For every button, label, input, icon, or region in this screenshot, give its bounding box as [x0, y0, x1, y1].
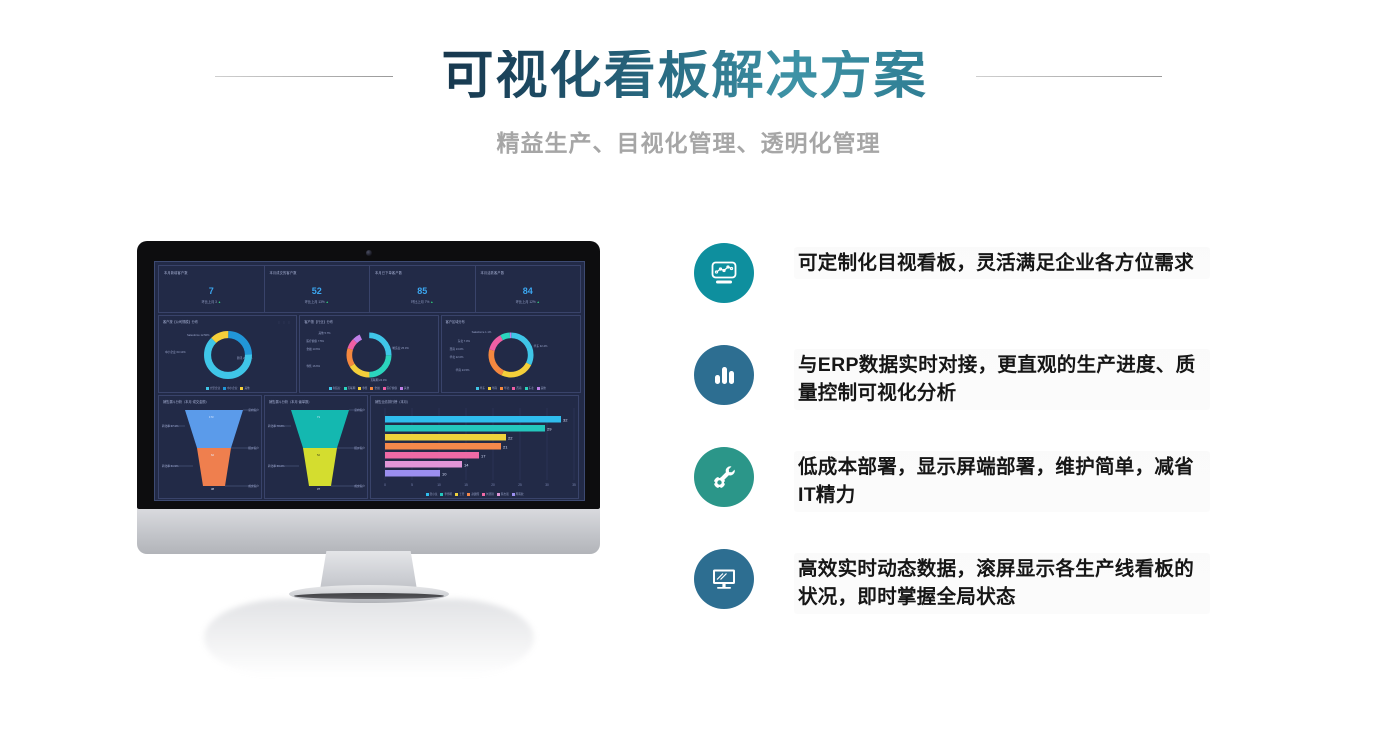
svg-text:10: 10	[437, 483, 441, 487]
kpi-value: 52	[265, 286, 370, 296]
kpi-row: 本月新增客户数 7 环比上月 3 ▲ 本月成交的客户数 52	[158, 265, 581, 313]
chart-legend: 华东 华南 华北 西南 东北 其他	[442, 386, 580, 390]
feature-text: 与ERP数据实时对接，更直观的生产进度、质量控制可视化分析	[794, 349, 1210, 410]
kpi-sub-value: 3	[215, 300, 217, 304]
funnel-value: 37	[317, 488, 320, 491]
bar-chart-icon	[694, 345, 754, 405]
feature-item-erp[interactable]: 与ERP数据实时对接，更直观的生产进度、质量控制可视化分析	[694, 345, 1224, 447]
panel-ranking[interactable]: 销售业绩排行榜（本月）	[370, 395, 579, 499]
bar-chart: 32 29 22 21 17 14 10 0510	[371, 396, 580, 496]
funnel-value: 38	[211, 488, 214, 491]
kpi-trend-up-icon: ▲	[326, 300, 329, 304]
kpi-card[interactable]: 本月活跃客户数 84 环比上月 12% ▲	[475, 265, 582, 313]
funnel-value: 62	[211, 454, 214, 457]
poster-root: 可视化看板解决方案 精益生产、目视化管理、透明化管理 本月新增客户数 7 环比上…	[0, 0, 1377, 753]
funnel-rate-label: 转化率 37.1%	[162, 424, 178, 428]
monitor-linechart-icon	[694, 243, 754, 303]
feature-item-realtime[interactable]: 高效实时动态数据，滚屏显示各生产线看板的状况，即时掌握全局状态	[694, 549, 1224, 651]
monitor-chin	[137, 509, 600, 554]
funnel-stage-label: 成交客户	[354, 484, 365, 488]
monitor-reflection	[204, 599, 534, 677]
wrench-gear-glyph	[707, 460, 741, 494]
monitor-icon	[694, 549, 754, 609]
legend-item: 金融	[370, 386, 379, 390]
title-row: 可视化看板解决方案	[0, 40, 1377, 112]
feature-text: 可定制化目视看板，灵活满足企业各方位需求	[794, 247, 1210, 279]
feature-list: 可定制化目视看板，灵活满足企业各方位需求 与ERP数据实时对接，更直观的生产进度…	[694, 243, 1224, 653]
page-title: 可视化看板解决方案	[441, 50, 927, 102]
kpi-sub: 环比上月 3 ▲	[159, 299, 264, 304]
donut-svg	[201, 328, 255, 382]
legend-item: 华南	[488, 386, 497, 390]
donut-chart	[300, 327, 437, 383]
panel-region[interactable]: 客户区域分布 Salesforce 1.1% 东北 7.0% 西南 13.0% …	[441, 315, 581, 393]
legend-item: 刘思琪	[482, 492, 494, 496]
kpi-card[interactable]: 本月成交的客户数 52 环比上月 13% ▲	[264, 265, 370, 313]
kpi-value: 84	[476, 286, 581, 296]
kpi-sub-value: 12%	[529, 300, 535, 304]
kpi-card[interactable]: 本月已下单客户数 85 环比上月 7% ▲	[369, 265, 475, 313]
chart-legend: 制造业 互联网 零售 金融 医疗健康 其他	[300, 386, 437, 390]
legend-item: 赵建国	[467, 492, 479, 496]
kpi-sub-label: 环比上月	[202, 300, 215, 304]
panel-title: 客户按【公司规模】分布	[163, 319, 198, 324]
kpi-trend-up-icon: ▲	[430, 300, 433, 304]
bottom-row: 销售漏斗分析（本月·成交金额） 意向客户 报价	[158, 395, 581, 499]
svg-text:30: 30	[545, 483, 549, 487]
legend-item: 周雨欣	[512, 492, 524, 496]
kpi-title: 本月活跃客户数	[481, 270, 505, 275]
svg-text:32: 32	[563, 418, 568, 423]
legend-item: 大型企业	[206, 386, 220, 390]
title-divider-right	[976, 76, 1162, 77]
donut-chart	[159, 327, 296, 383]
panel-funnel-wins[interactable]: 销售漏斗分析（本月·赢单数） 意向客户 报价客	[264, 395, 368, 499]
legend-item: 李伟明	[440, 492, 452, 496]
kpi-value: 7	[159, 286, 264, 296]
monitor-linechart-glyph	[707, 256, 741, 290]
funnel-rate-label: 转化率 61.9%	[162, 464, 178, 468]
kpi-sub: 环比上月 13% ▲	[265, 299, 370, 304]
kpi-card[interactable]: 本月新增客户数 7 环比上月 3 ▲	[158, 265, 264, 313]
svg-text:20: 20	[491, 483, 495, 487]
panel-menu-icon[interactable]: ⋮⋮⋮	[277, 320, 292, 324]
dashboard: 本月新增客户数 7 环比上月 3 ▲ 本月成交的客户数 52	[155, 262, 584, 500]
page-subtitle: 精益生产、目视化管理、透明化管理	[0, 124, 1377, 158]
wrench-gear-icon	[694, 447, 754, 507]
funnel-rate-label: 转化率 78.8%	[268, 424, 284, 428]
panel-title: 客户按【行业】分布	[304, 319, 333, 324]
svg-text:0: 0	[384, 483, 386, 487]
monitor-bezel: 本月新增客户数 7 环比上月 3 ▲ 本月成交的客户数 52	[137, 241, 600, 509]
kpi-trend-up-icon: ▲	[537, 300, 540, 304]
svg-text:35: 35	[572, 483, 576, 487]
feature-item-customizable[interactable]: 可定制化目视看板，灵活满足企业各方位需求	[694, 243, 1224, 345]
monitor-screen: 本月新增客户数 7 环比上月 3 ▲ 本月成交的客户数 52	[154, 261, 585, 501]
funnel-stage-label: 报价客户	[248, 446, 259, 450]
funnel-stage-label: 意向客户	[248, 408, 259, 412]
funnel-stage-label: 成交客户	[248, 484, 259, 488]
header: 可视化看板解决方案 精益生产、目视化管理、透明化管理	[0, 0, 1377, 185]
kpi-sub-label: 环比上月	[411, 300, 424, 304]
legend-item: 中小企业	[223, 386, 237, 390]
legend-item: 华东	[476, 386, 485, 390]
legend-item: 其他	[537, 386, 546, 390]
donut-row: 客户按【公司规模】分布 ⋮⋮⋮ 中小企业 63.10% Salesforce 1…	[158, 315, 581, 393]
svg-text:21: 21	[503, 445, 508, 450]
svg-text:14: 14	[464, 463, 469, 468]
svg-text:10: 10	[442, 472, 447, 477]
kpi-sub-value: 13%	[318, 300, 324, 304]
funnel-value: 71	[317, 416, 320, 419]
legend-item: 王芳	[455, 492, 464, 496]
legend-item: 陈志强	[497, 492, 509, 496]
panel-title: 销售业绩排行榜（本月）	[375, 399, 410, 404]
legend-item: 华北	[500, 386, 509, 390]
funnel-stage-label: 报价客户	[354, 446, 365, 450]
feature-text: 低成本部署，显示屏端部署，维护简单，减省IT精力	[794, 451, 1210, 512]
kpi-sub-label: 环比上月	[305, 300, 318, 304]
legend-item: 东北	[525, 386, 534, 390]
svg-text:17: 17	[481, 454, 486, 459]
kpi-title: 本月新增客户数	[164, 270, 188, 275]
legend-item: 零售	[358, 386, 367, 390]
kpi-title: 本月成交的客户数	[270, 270, 297, 275]
legend-item: 互联网	[344, 386, 356, 390]
panel-company-size[interactable]: 客户按【公司规模】分布 ⋮⋮⋮ 中小企业 63.10% Salesforce 1…	[158, 315, 297, 393]
monitor-glyph	[707, 562, 741, 596]
svg-text:29: 29	[547, 427, 552, 432]
legend-item: 其他	[240, 386, 249, 390]
panel-industry[interactable]: 客户按【行业】分布 其他 5.7% 医疗健康 7.5% 金融 13.6% 零售 …	[299, 315, 438, 393]
donut-svg	[343, 329, 395, 381]
chart-legend: 大型企业 中小企业 其他	[159, 386, 296, 390]
panel-title: 销售漏斗分析（本月·成交金额）	[163, 399, 209, 404]
svg-text:22: 22	[508, 436, 513, 441]
kpi-sub: 环比上月 7% ▲	[370, 299, 475, 304]
svg-text:5: 5	[411, 483, 413, 487]
feature-text: 高效实时动态数据，滚屏显示各生产线看板的状况，即时掌握全局状态	[794, 553, 1210, 614]
panel-title: 客户区域分布	[446, 319, 465, 324]
kpi-sub: 环比上月 12% ▲	[476, 299, 581, 304]
panel-title: 销售漏斗分析（本月·赢单数）	[269, 399, 312, 404]
title-divider-left	[215, 76, 393, 77]
panel-funnel-amount[interactable]: 销售漏斗分析（本月·成交金额） 意向客户 报价	[158, 395, 262, 499]
kpi-title: 本月已下单客户数	[375, 270, 402, 275]
legend-item: 医疗健康	[383, 386, 397, 390]
donut-svg	[485, 329, 537, 381]
webcam-icon	[366, 250, 372, 256]
feature-item-deployment[interactable]: 低成本部署，显示屏端部署，维护简单，减省IT精力	[694, 447, 1224, 549]
monitor-mockup: 本月新增客户数 7 环比上月 3 ▲ 本月成交的客户数 52	[137, 241, 600, 671]
kpi-trend-up-icon: ▲	[218, 300, 221, 304]
svg-text:15: 15	[464, 483, 468, 487]
legend-item: 制造业	[329, 386, 341, 390]
kpi-sub-label: 环比上月	[516, 300, 529, 304]
funnel-value: 52	[317, 454, 320, 457]
donut-chart	[442, 327, 580, 383]
legend-item: 张小龙	[426, 492, 438, 496]
funnel-stage-label: 意向客户	[354, 408, 365, 412]
funnel-rate-label: 转化率 69.2%	[268, 464, 284, 468]
svg-text:25: 25	[518, 483, 522, 487]
legend-item: 其他	[400, 386, 409, 390]
chart-legend: 张小龙 李伟明 王芳 赵建国 刘思琪 陈志强 周雨欣	[371, 492, 578, 496]
kpi-value: 85	[370, 286, 475, 296]
legend-item: 西南	[512, 386, 521, 390]
funnel-value: 173	[209, 416, 213, 419]
bar-chart-glyph	[707, 358, 741, 392]
kpi-sub-value: 7%	[425, 300, 430, 304]
